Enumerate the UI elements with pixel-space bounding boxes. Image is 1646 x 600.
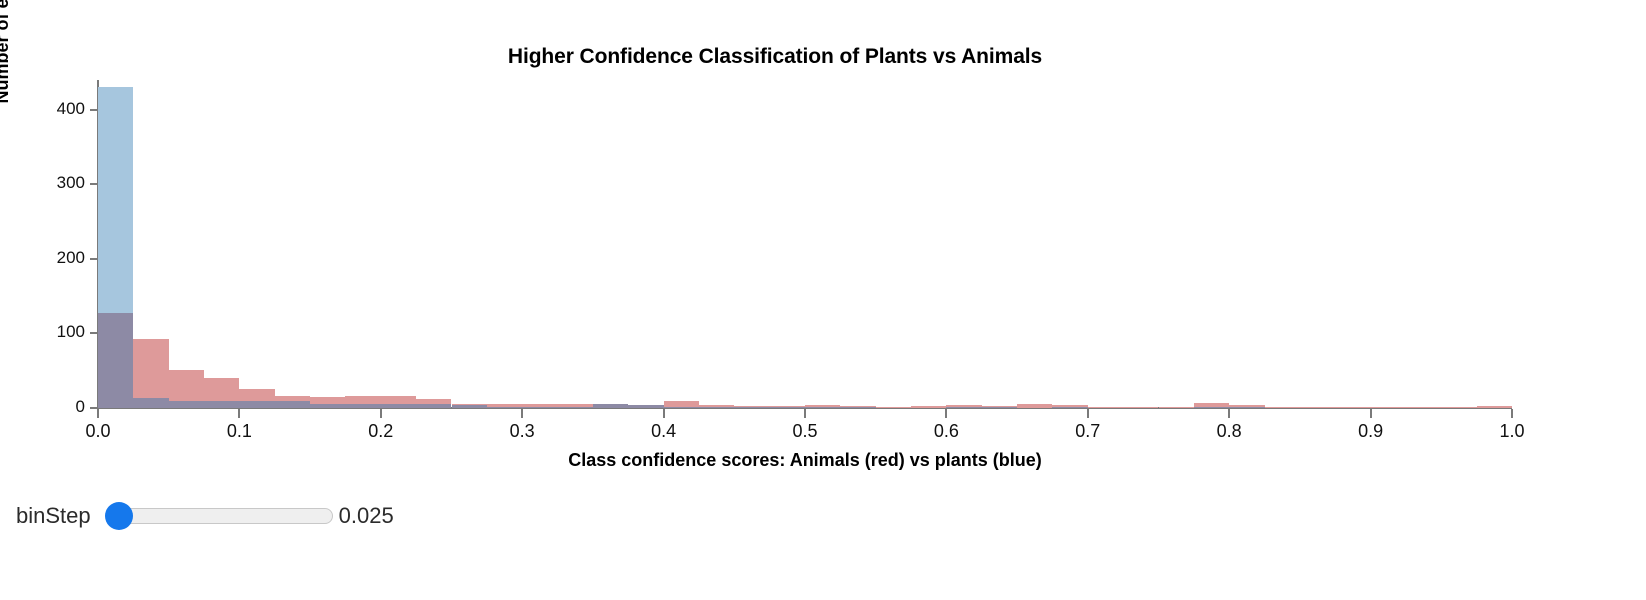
histogram-bar-animals <box>770 406 805 407</box>
x-tick-label: 1.0 <box>1499 421 1524 442</box>
histogram-bar-animals <box>982 406 1017 407</box>
histogram-bar-overlap <box>734 407 769 408</box>
x-tick-label: 0.3 <box>510 421 535 442</box>
histogram-bar-overlap <box>699 407 734 408</box>
histogram-bar-animals <box>1159 407 1194 408</box>
y-tick-mark <box>90 258 98 260</box>
histogram-bar-overlap <box>487 407 522 408</box>
x-tick-label: 0.8 <box>1217 421 1242 442</box>
bin-step-value: 0.025 <box>339 503 394 529</box>
histogram-bar-overlap <box>1088 407 1123 408</box>
histogram-bar-overlap <box>310 404 345 408</box>
histogram-bar-animals <box>1441 407 1476 408</box>
chart-title: Higher Confidence Classification of Plan… <box>0 45 1550 69</box>
histogram-bar-overlap <box>593 404 628 408</box>
y-tick-label: 200 <box>57 248 85 268</box>
bin-step-label: binStep <box>16 503 91 529</box>
histogram-bar-overlap <box>770 407 805 408</box>
histogram-bar-overlap <box>133 398 168 408</box>
y-axis-title: Number of examples <box>0 0 13 130</box>
plot-area <box>98 80 1512 408</box>
histogram-bar-animals <box>1300 407 1335 408</box>
histogram-bar-overlap <box>381 404 416 408</box>
histogram-bar-animals <box>664 401 699 407</box>
x-tick-label: 0.2 <box>368 421 393 442</box>
histogram-bar-animals <box>911 406 946 408</box>
x-tick-label: 0.9 <box>1358 421 1383 442</box>
x-axis-title: Class confidence scores: Animals (red) v… <box>98 450 1512 471</box>
histogram-bar-animals <box>1406 407 1441 408</box>
histogram-bar-animals <box>381 396 416 403</box>
chart-page: Higher Confidence Classification of Plan… <box>0 0 1646 600</box>
histogram-bar-plants <box>98 87 133 312</box>
histogram-bar-animals <box>239 389 274 402</box>
histogram-bar-overlap <box>522 407 557 408</box>
y-tick-label: 0 <box>76 397 85 417</box>
histogram-bar-animals <box>805 405 840 407</box>
histogram-bar-animals <box>1088 407 1123 408</box>
histogram-bar-animals <box>1017 404 1052 408</box>
x-tick-mark <box>238 409 240 418</box>
histogram-bar-animals <box>169 370 204 401</box>
histogram-bar-animals <box>1371 407 1406 408</box>
x-tick-mark <box>380 409 382 418</box>
histogram-bar-animals <box>946 405 981 407</box>
histogram-bar-animals <box>1477 406 1512 408</box>
histogram-bar-overlap <box>416 404 451 408</box>
x-tick-mark <box>1370 409 1372 418</box>
histogram-bar-overlap <box>946 407 981 408</box>
histogram-bar-animals <box>204 378 239 401</box>
histogram-bar-overlap <box>204 401 239 408</box>
histogram-bar-overlap <box>239 401 274 408</box>
histogram-bar-animals <box>345 396 380 403</box>
x-tick-mark <box>804 409 806 418</box>
x-tick-mark <box>97 409 99 418</box>
histogram-bar-overlap <box>98 313 133 408</box>
histogram-bar-animals <box>1335 407 1370 408</box>
bin-step-control: binStep 0.025 <box>16 496 394 536</box>
histogram-bar-overlap <box>1194 407 1229 408</box>
histogram-bar-animals <box>876 407 911 408</box>
x-tick-label: 0.7 <box>1075 421 1100 442</box>
histogram-bar-animals <box>522 404 557 407</box>
x-tick-mark <box>1511 409 1513 418</box>
histogram-bars <box>98 80 1512 408</box>
histogram-bar-overlap <box>345 404 380 408</box>
histogram-bar-overlap <box>169 401 204 408</box>
histogram-bar-animals <box>558 404 593 406</box>
x-tick-label: 0.5 <box>792 421 817 442</box>
histogram-bar-animals <box>1229 405 1264 407</box>
histogram-bar-overlap <box>275 401 310 408</box>
histogram-bar-overlap <box>1229 407 1264 408</box>
y-tick-label: 300 <box>57 173 85 193</box>
histogram-bar-overlap <box>805 407 840 408</box>
histogram-bar-overlap <box>1052 407 1087 408</box>
bin-step-slider[interactable] <box>93 505 333 527</box>
histogram-bar-overlap <box>664 407 699 408</box>
histogram-bar-animals <box>416 399 451 403</box>
histogram-bar-overlap <box>628 405 663 408</box>
histogram-bar-overlap <box>558 407 593 408</box>
histogram-bar-animals <box>452 404 487 405</box>
histogram-bar-animals <box>734 406 769 407</box>
x-tick-label: 0.1 <box>227 421 252 442</box>
histogram-bar-animals <box>1194 403 1229 407</box>
histogram-bar-animals <box>699 405 734 407</box>
y-tick-mark <box>90 109 98 111</box>
histogram-bar-animals <box>275 396 310 401</box>
slider-thumb[interactable] <box>105 502 133 530</box>
histogram-bar-animals <box>1265 407 1300 408</box>
histogram-bar-animals <box>310 397 345 404</box>
y-tick-mark <box>90 183 98 185</box>
x-tick-mark <box>521 409 523 418</box>
x-tick-label: 0.4 <box>651 421 676 442</box>
histogram-bar-animals <box>1123 407 1158 408</box>
histogram-bar-overlap <box>876 407 911 408</box>
x-tick-label: 0.6 <box>934 421 959 442</box>
histogram-bar-animals <box>1052 405 1087 407</box>
x-tick-mark <box>663 409 665 418</box>
x-tick-mark <box>945 409 947 418</box>
histogram-bar-overlap <box>840 407 875 408</box>
histogram-bar-animals <box>487 404 522 406</box>
y-tick-label: 400 <box>57 99 85 119</box>
slider-track[interactable] <box>121 508 333 524</box>
y-tick-label: 100 <box>57 322 85 342</box>
y-tick-mark <box>90 332 98 334</box>
x-tick-label: 0.0 <box>85 421 110 442</box>
histogram-bar-overlap <box>452 405 487 408</box>
x-tick-mark <box>1228 409 1230 418</box>
histogram-bar-animals <box>840 406 875 407</box>
histogram-bar-overlap <box>982 407 1017 408</box>
histogram-bar-animals <box>133 339 168 398</box>
x-tick-mark <box>1087 409 1089 418</box>
